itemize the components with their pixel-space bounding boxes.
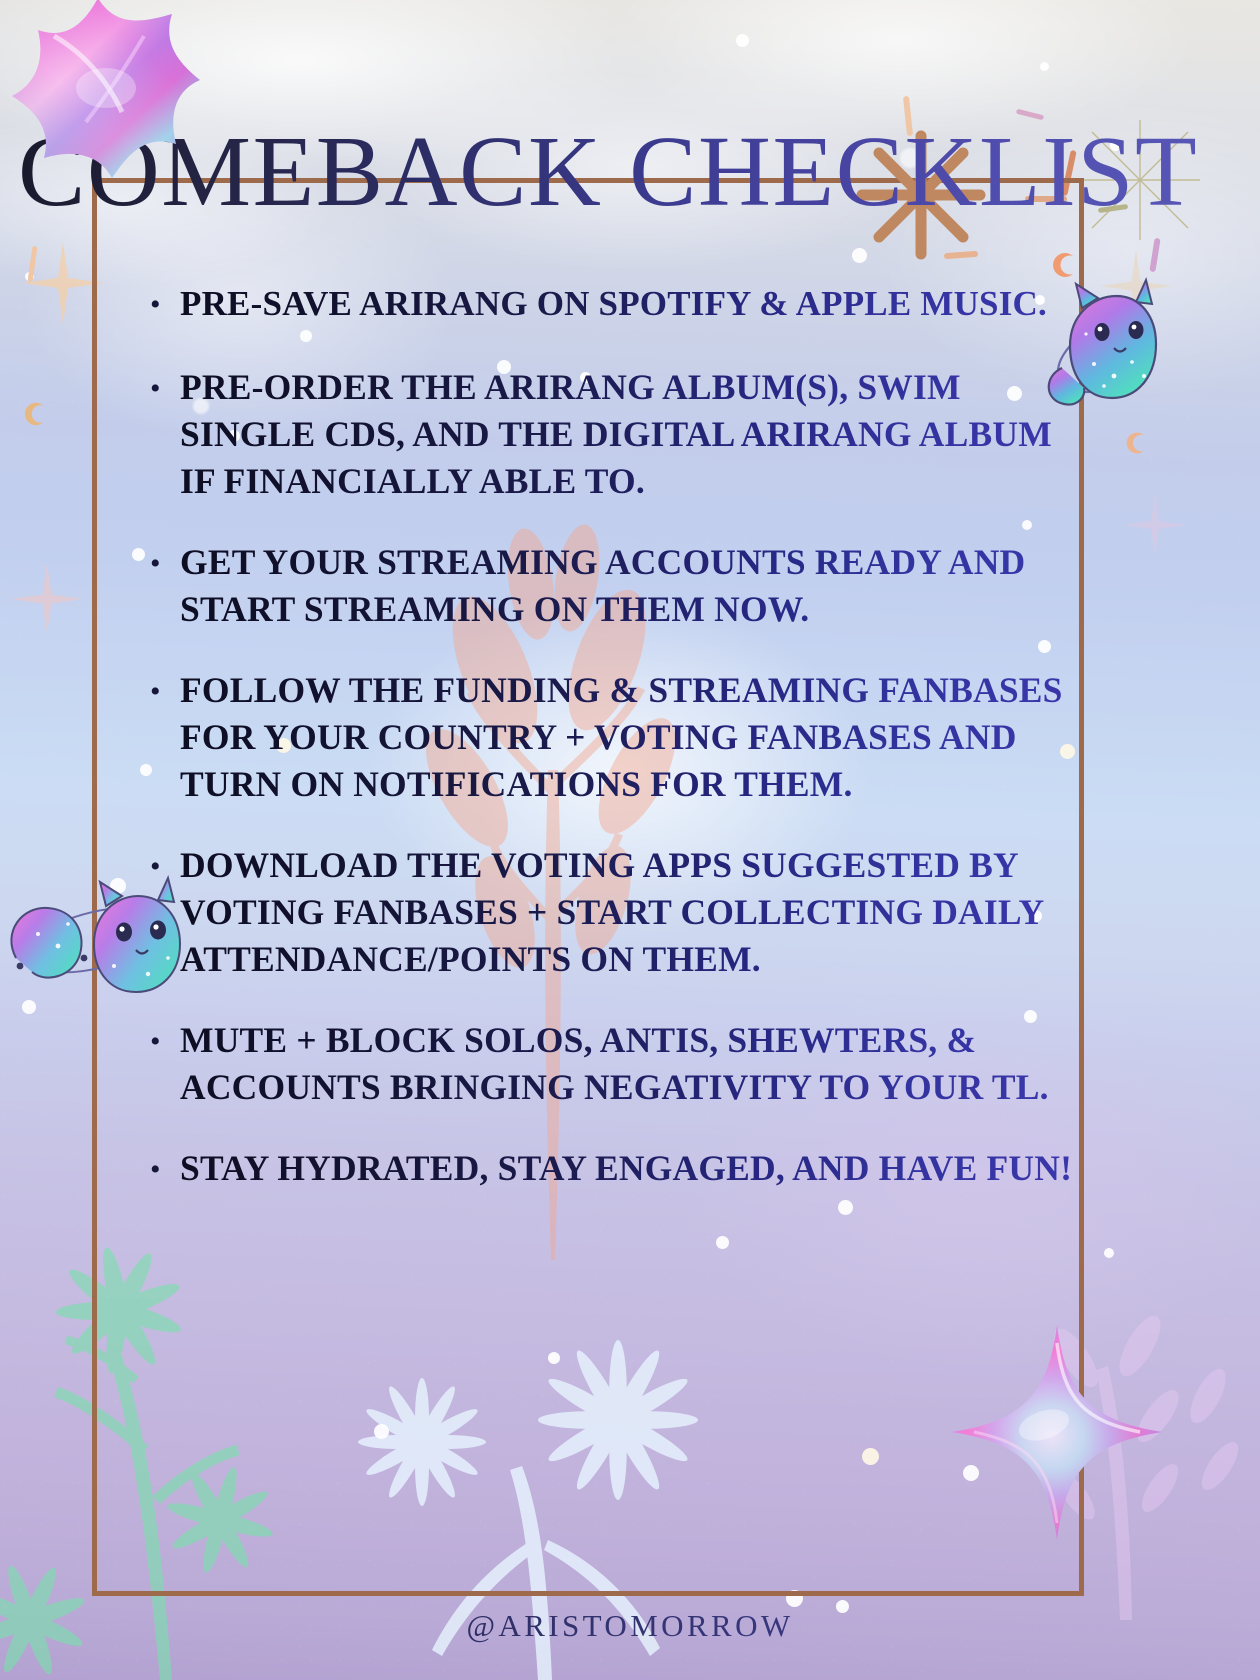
- list-item-label: PRE-ORDER THE ARIRANG ALBUM(S), SWIM SIN…: [180, 364, 1090, 505]
- bokeh-dot: [22, 1000, 36, 1014]
- bokeh-dot: [963, 1465, 979, 1481]
- bokeh-dot: [374, 1424, 389, 1439]
- list-item: • STAY HYDRATED, STAY ENGAGED, AND HAVE …: [150, 1145, 1090, 1195]
- four-point-sparkle-icon: [8, 560, 86, 638]
- bokeh-dot: [786, 1590, 803, 1607]
- frame-left-line: [92, 178, 97, 1596]
- list-item-label: PRE-SAVE ARIRANG ON SPOTIFY & APPLE MUSI…: [180, 280, 1090, 330]
- list-item: • FOLLOW THE FUNDING & STREAMING FANBASE…: [150, 667, 1090, 808]
- checklist: • PRE-SAVE ARIRANG ON SPOTIFY & APPLE MU…: [150, 280, 1090, 1229]
- bullet-icon: •: [150, 1145, 180, 1195]
- bokeh-dot: [852, 248, 867, 263]
- confetti-stick: [28, 246, 38, 282]
- bokeh-dot: [736, 34, 749, 47]
- bokeh-dot: [1040, 62, 1049, 71]
- list-item-label: FOLLOW THE FUNDING & STREAMING FANBASES …: [180, 667, 1090, 808]
- bullet-icon: •: [150, 539, 180, 633]
- list-item: • DOWNLOAD THE VOTING APPS SUGGESTED BY …: [150, 842, 1090, 983]
- list-item: • GET YOUR STREAMING ACCOUNTS READY AND …: [150, 539, 1090, 633]
- list-item-label: STAY HYDRATED, STAY ENGAGED, AND HAVE FU…: [180, 1145, 1090, 1195]
- bullet-icon: •: [150, 1017, 180, 1111]
- confetti-stick: [944, 251, 978, 259]
- bokeh-dot: [25, 272, 34, 281]
- crescent-moon-icon: [1124, 430, 1150, 456]
- list-item-label: GET YOUR STREAMING ACCOUNTS READY AND ST…: [180, 539, 1090, 633]
- crescent-moon-icon: [22, 400, 50, 428]
- bokeh-dot: [716, 1236, 729, 1249]
- iridescent-four-point-star-sticker: [952, 1325, 1162, 1540]
- list-item: • PRE-ORDER THE ARIRANG ALBUM(S), SWIM S…: [150, 364, 1090, 505]
- four-point-sparkle-icon: [1120, 490, 1190, 560]
- bullet-icon: •: [150, 667, 180, 808]
- four-point-sparkle-icon: [1096, 246, 1176, 326]
- page-title: COMEBACK CHECKLIST: [18, 120, 1248, 223]
- list-item-label: MUTE + BLOCK SOLOS, ANTIS, SHEWTERS, & A…: [180, 1017, 1090, 1111]
- crescent-moon-icon: [1050, 250, 1080, 280]
- bokeh-dot: [132, 548, 145, 561]
- bokeh-dot: [1104, 1248, 1114, 1258]
- frame-bottom-line: [92, 1591, 1084, 1596]
- bullet-icon: •: [150, 364, 180, 505]
- bullet-icon: •: [150, 280, 180, 330]
- bullet-icon: •: [150, 842, 180, 983]
- list-item-label: DOWNLOAD THE VOTING APPS SUGGESTED BY VO…: [180, 842, 1090, 983]
- bokeh-dot: [548, 1352, 560, 1364]
- four-point-sparkle-icon: [18, 238, 108, 328]
- poster-canvas: COMEBACK CHECKLIST: [0, 0, 1260, 1680]
- bokeh-dot: [110, 878, 126, 894]
- confetti-stick: [1149, 238, 1160, 273]
- list-item: • PRE-SAVE ARIRANG ON SPOTIFY & APPLE MU…: [150, 280, 1090, 330]
- footer-handle: @ARISTOMORROW: [0, 1608, 1260, 1644]
- bokeh-dot: [862, 1448, 879, 1465]
- lavender-botanical-silhouette: [980, 1300, 1260, 1620]
- list-item: • MUTE + BLOCK SOLOS, ANTIS, SHEWTERS, &…: [150, 1017, 1090, 1111]
